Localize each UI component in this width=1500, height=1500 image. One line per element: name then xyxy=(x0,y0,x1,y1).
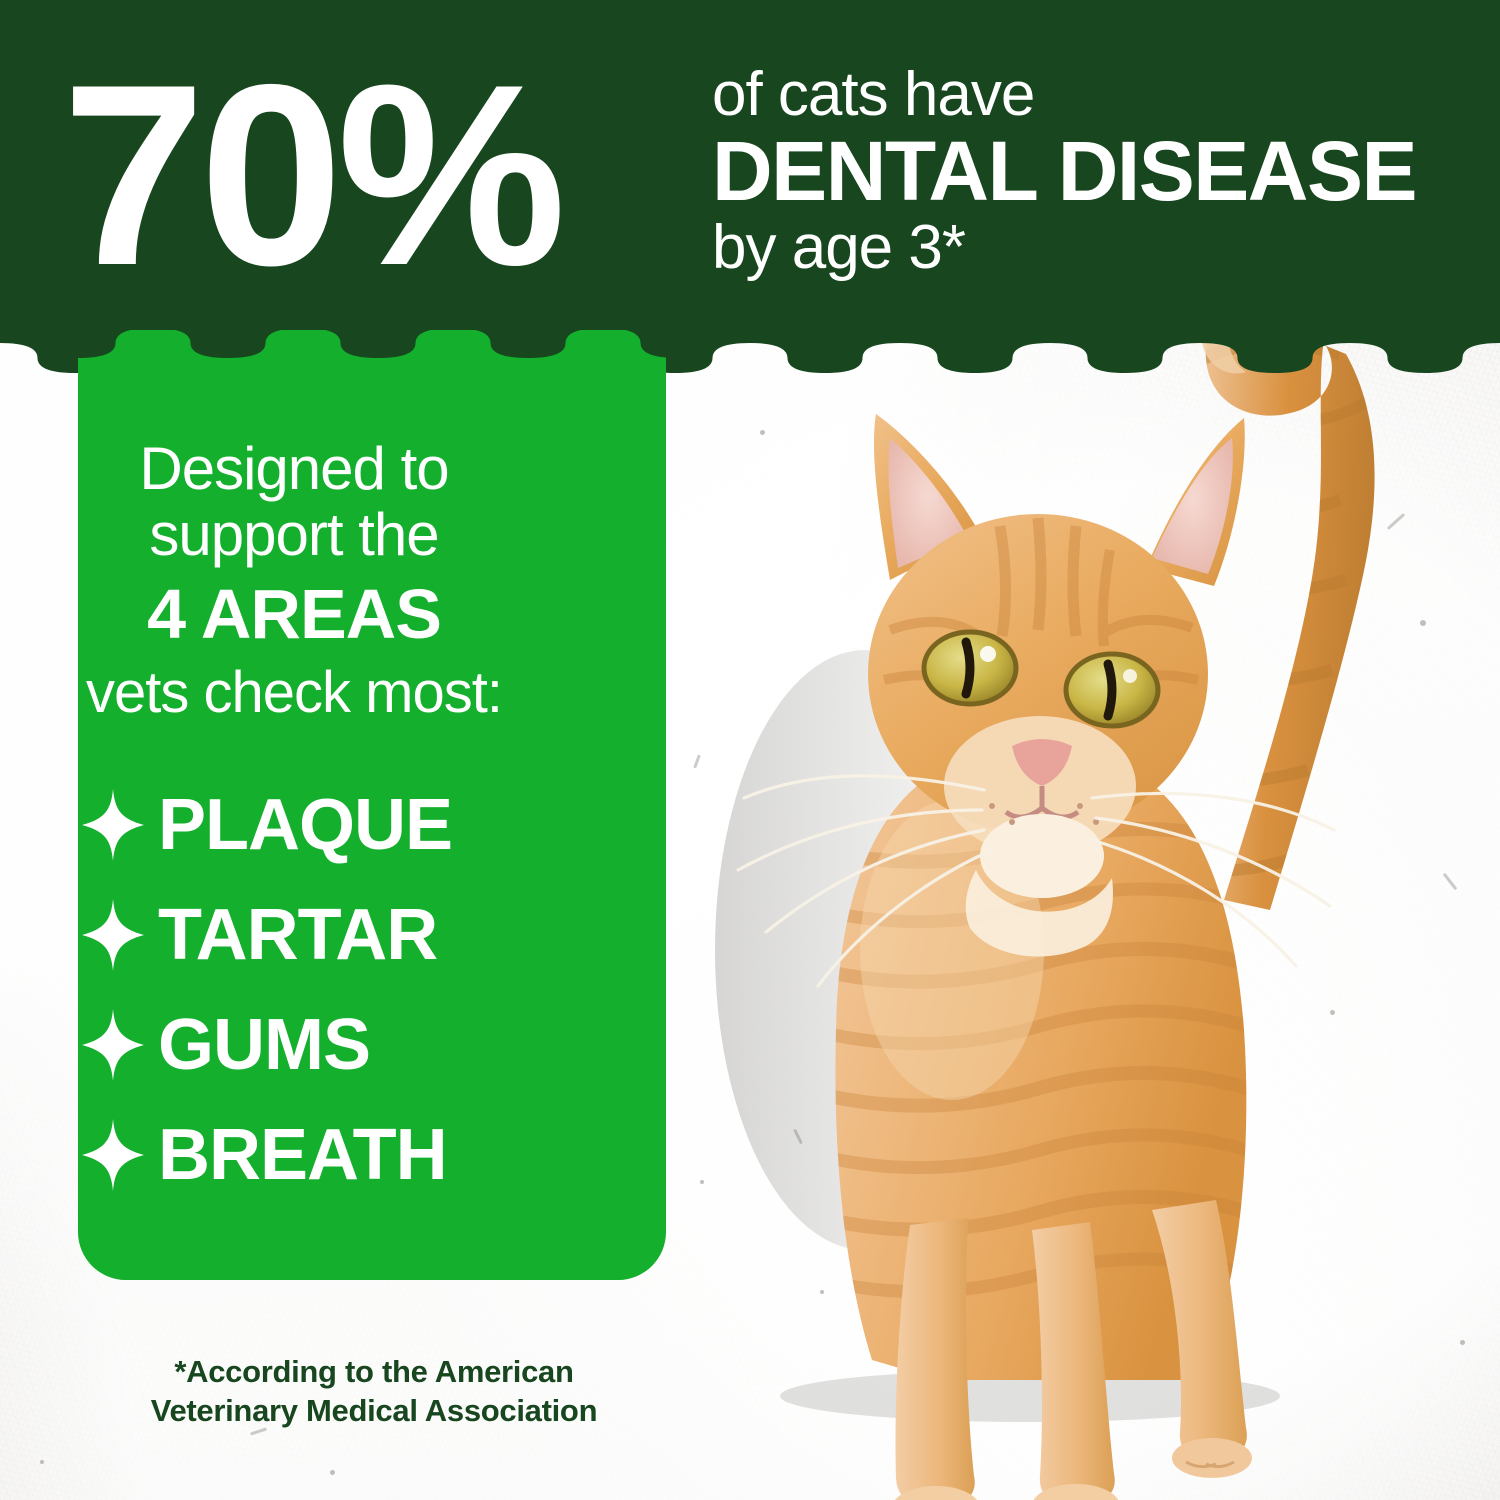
card-line-4: vets check most: xyxy=(0,660,588,727)
list-item-label: GUMS xyxy=(158,1009,370,1081)
card-line-1: Designed to xyxy=(0,434,588,505)
list-item-gums: GUMS xyxy=(0,990,588,1100)
headline-line-3: by age 3* xyxy=(712,215,1416,282)
promo-poster: 70% of cats have DENTAL DISEASE by age 3… xyxy=(0,0,1500,1500)
header-text-block: 70% of cats have DENTAL DISEASE by age 3… xyxy=(0,0,1500,340)
sparkle-icon xyxy=(82,789,144,861)
sparkle-icon xyxy=(82,1009,144,1081)
headline-line-2: DENTAL DISEASE xyxy=(712,128,1416,215)
list-item-plaque: PLAQUE xyxy=(0,770,588,880)
list-item-tartar: TARTAR xyxy=(0,880,588,990)
benefits-list: PLAQUE TARTAR GUMS BREATH xyxy=(0,770,588,1210)
sparkle-icon xyxy=(82,1119,144,1191)
list-item-breath: BREATH xyxy=(0,1100,588,1210)
footnote-disclaimer: *According to the American Veterinary Me… xyxy=(64,1352,684,1430)
footnote-line-1: *According to the American xyxy=(64,1352,684,1391)
card-line-2: support the xyxy=(0,500,588,571)
list-item-label: PLAQUE xyxy=(158,789,452,861)
header-headline-group: of cats have DENTAL DISEASE by age 3* xyxy=(712,62,1416,282)
list-item-label: BREATH xyxy=(158,1119,447,1191)
features-card-content: Designed to support the 4 AREAS vets che… xyxy=(0,330,588,1280)
headline-line-1: of cats have xyxy=(712,62,1416,128)
list-item-label: TARTAR xyxy=(158,899,437,971)
cat-photo xyxy=(640,250,1500,1500)
sparkle-icon xyxy=(82,899,144,971)
card-line-3-areas: 4 AREAS xyxy=(0,576,588,653)
footnote-line-2: Veterinary Medical Association xyxy=(64,1391,684,1430)
stat-percentage: 70% xyxy=(62,46,560,304)
